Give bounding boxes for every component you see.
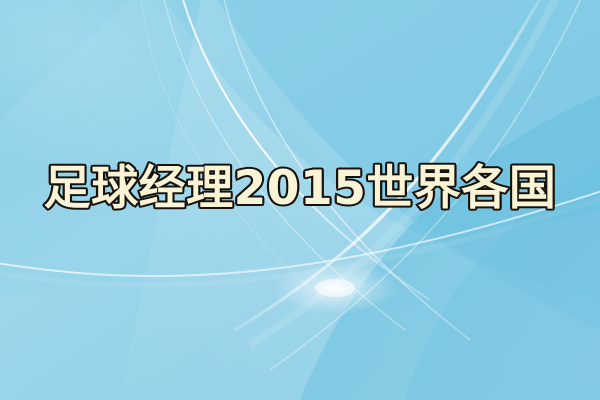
page-title: 足球经理2015世界各国 [44, 165, 557, 212]
banner-image: 足球经理2015世界各国 [0, 0, 600, 400]
title-layer: 足球经理2015世界各国 [0, 0, 600, 400]
